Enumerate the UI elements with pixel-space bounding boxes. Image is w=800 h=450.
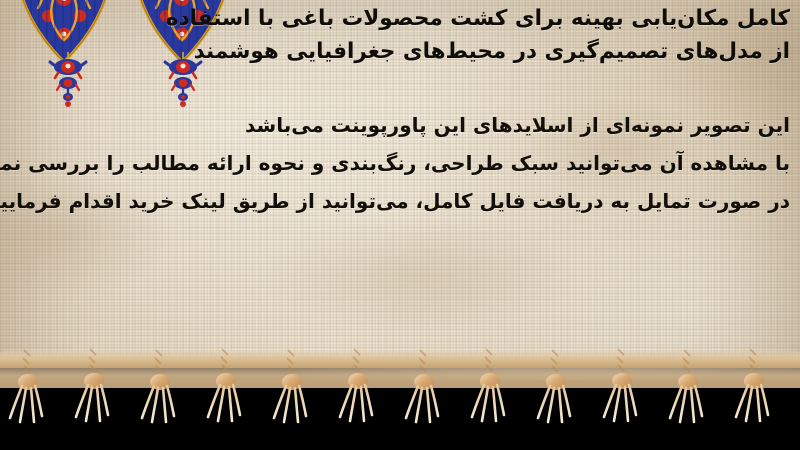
slide-canvas: کامل مکان‌یابی بهینه برای کشت محصولات با… bbox=[0, 0, 800, 450]
title-line-2: از مدل‌های تصمیم‌گیری در محیط‌های جغرافی… bbox=[2, 35, 790, 68]
title-line-1: کامل مکان‌یابی بهینه برای کشت محصولات با… bbox=[2, 2, 790, 35]
body-line-2: با مشاهده آن می‌توانید سبک طراحی، رنگ‌بن… bbox=[2, 146, 790, 180]
slide-body: این تصویر نمونه‌ای از اسلایدهای این پاور… bbox=[2, 108, 790, 218]
slide-text-layer: کامل مکان‌یابی بهینه برای کشت محصولات با… bbox=[0, 0, 800, 450]
body-line-3: در صورت تمایل به دریافت فایل کامل، می‌تو… bbox=[2, 184, 790, 218]
slide-title: کامل مکان‌یابی بهینه برای کشت محصولات با… bbox=[2, 2, 790, 68]
body-line-1: این تصویر نمونه‌ای از اسلایدهای این پاور… bbox=[2, 108, 790, 142]
